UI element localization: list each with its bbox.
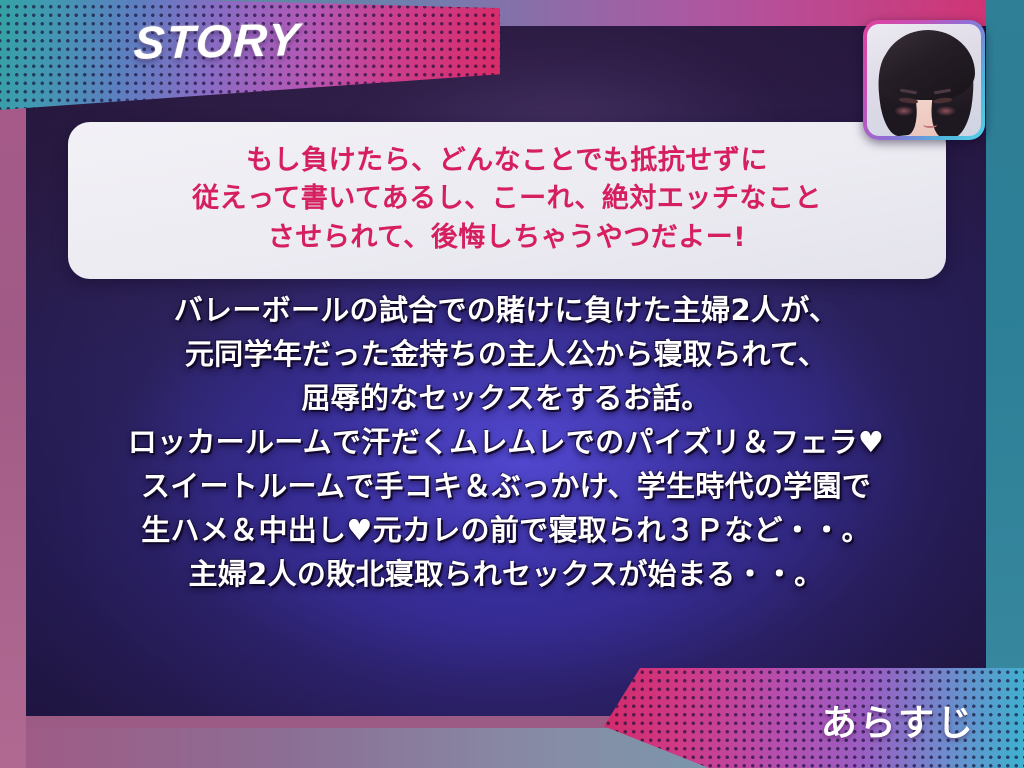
synopsis-line: 主婦2人の敗北寝取られセックスが始まる・・。: [26, 552, 986, 596]
avatar-image: [867, 24, 981, 136]
quote-line: もし負けたら、どんなことでも抵抗せずに: [86, 142, 928, 180]
synopsis-line: バレーボールの試合での賭けに負けた主婦2人が、: [26, 288, 986, 332]
synopsis-line: スイートルームで手コキ＆ぶっかけ、学生時代の学園で: [26, 464, 986, 508]
synopsis-line: 元同学年だった金持ちの主人公から寝取られて、: [26, 332, 986, 376]
avatar-hair-top: [881, 30, 975, 100]
quote-line: させられて、後悔しちゃうやつだよー!: [86, 219, 928, 257]
frame-left-strip: [0, 0, 26, 768]
synopsis-text-block: バレーボールの試合での賭けに負けた主婦2人が、 元同学年だった金持ちの主人公から…: [26, 288, 986, 597]
synopsis-label: あらすじ: [821, 694, 976, 746]
page-title: STORY: [133, 12, 303, 69]
avatar-mouth: [923, 122, 937, 128]
synopsis-line: ロッカールームで汗だくムレムレでのパイズリ＆フェラ♥: [26, 420, 986, 464]
quote-box: もし負けたら、どんなことでも抵抗せずに 従えって書いてあるし、こーれ、絶対エッチ…: [68, 122, 946, 279]
frame-right-strip: [986, 0, 1024, 768]
synopsis-line: 生ハメ＆中出し♥元カレの前で寝取られ３Ｐなど・・。: [26, 508, 986, 552]
content-panel: もし負けたら、どんなことでも抵抗せずに 従えって書いてあるし、こーれ、絶対エッチ…: [26, 26, 986, 716]
quote-line: 従えって書いてあるし、こーれ、絶対エッチなこと: [86, 180, 928, 218]
avatar-blush-left: [894, 106, 914, 116]
avatar[interactable]: [863, 20, 985, 140]
story-panel-root: もし負けたら、どんなことでも抵抗せずに 従えって書いてあるし、こーれ、絶対エッチ…: [0, 0, 1024, 768]
synopsis-line: 屈辱的なセックスをするお話。: [26, 376, 986, 420]
avatar-blush-right: [936, 106, 956, 116]
